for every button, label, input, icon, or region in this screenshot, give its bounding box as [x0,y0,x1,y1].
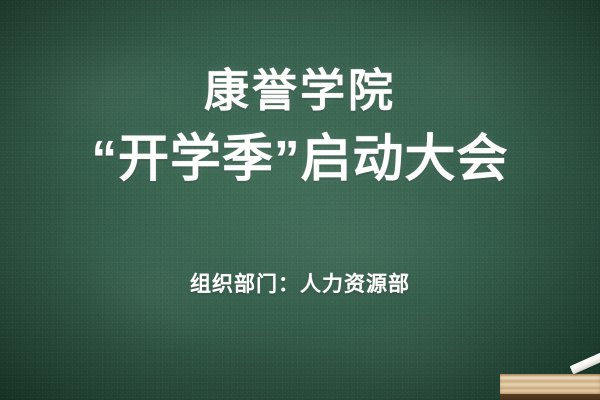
page-title-line-1: 康誉学院 [0,68,600,113]
page-title-line-2: “开学季”启动大会 [0,133,600,184]
chalkboard-title-slide: 康誉学院 “开学季”启动大会 组织部门：人力资源部 [0,0,600,400]
chalk-tray-icon [500,374,600,400]
slide-subtitle: 组织部门：人力资源部 [0,274,600,295]
slide-content: 康誉学院 “开学季”启动大会 组织部门：人力资源部 [0,0,600,400]
chalk-tray-edge [500,394,600,400]
chalk-tray-surface [500,374,600,395]
